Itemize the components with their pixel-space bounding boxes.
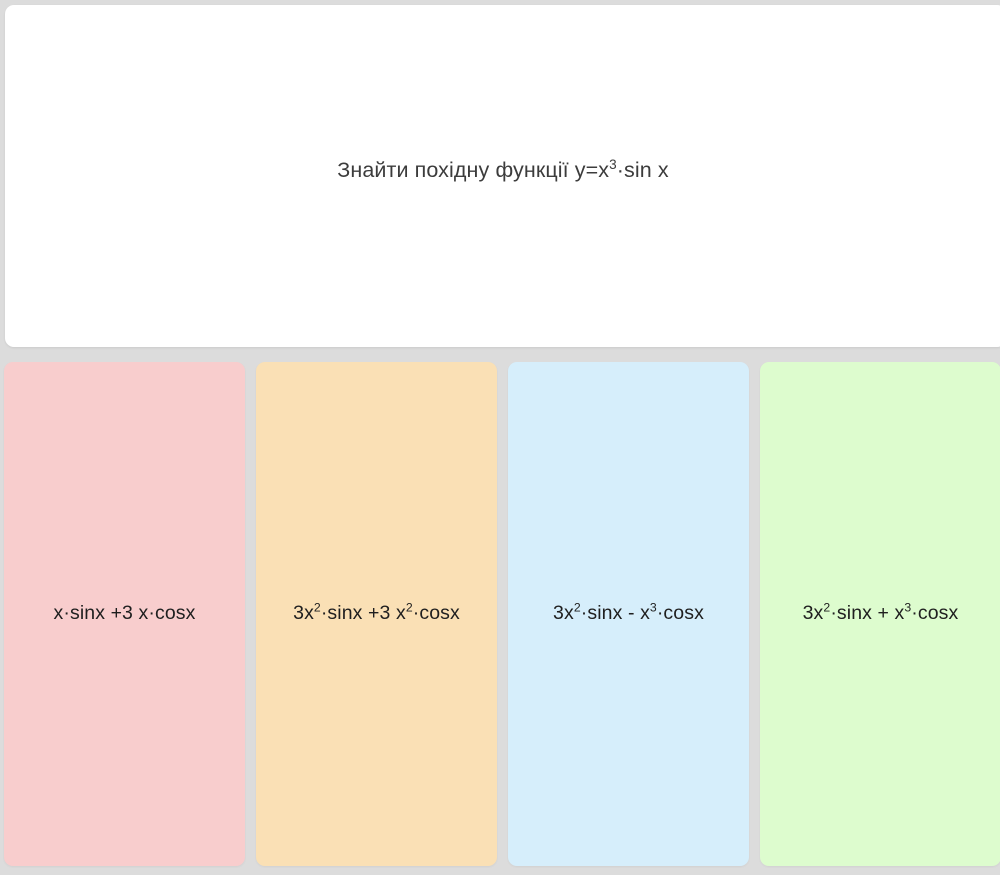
answer-c-sup-1: 3: [650, 601, 657, 615]
quiz-container: Знайти похідну функції y=x3·sin x x·sinx…: [0, 0, 1000, 875]
answer-c-part-2: ·cosx: [657, 602, 704, 624]
answer-b-part-1: ·sinx +3 x: [321, 602, 406, 624]
answer-b-part-0: 3x: [293, 602, 314, 624]
answer-option-a-label: x·sinx +3 x·cosx: [54, 601, 196, 626]
question-exponent: 3: [609, 157, 617, 172]
answer-option-c[interactable]: 3x2·sinx - x3·cosx: [508, 362, 749, 866]
answer-c-part-1: ·sinx - x: [581, 602, 650, 624]
answer-option-b-label: 3x2·sinx +3 x2·cosx: [293, 601, 460, 626]
answer-d-part-2: ·cosx: [911, 602, 958, 624]
answer-c-part-0: 3x: [553, 602, 574, 624]
answer-c-sup-0: 2: [574, 601, 581, 615]
question-prefix: Знайти похідну функції y=x: [337, 158, 609, 182]
answer-option-d[interactable]: 3x2·sinx + x3·cosx: [760, 362, 1000, 866]
answer-option-c-label: 3x2·sinx - x3·cosx: [553, 601, 704, 626]
question-suffix: ·sin x: [617, 158, 669, 182]
answer-b-part-2: ·cosx: [413, 602, 460, 624]
answer-d-part-0: 3x: [803, 602, 824, 624]
answer-b-sup-1: 2: [406, 601, 413, 615]
answer-b-sup-0: 2: [314, 601, 321, 615]
answer-options-row: x·sinx +3 x·cosx 3x2·sinx +3 x2·cosx 3x2…: [4, 362, 1000, 866]
answer-option-b[interactable]: 3x2·sinx +3 x2·cosx: [256, 362, 497, 866]
answer-option-d-label: 3x2·sinx + x3·cosx: [803, 601, 959, 626]
question-panel: Знайти похідну функції y=x3·sin x: [5, 5, 1000, 347]
answer-a-part-0: x·sinx +3 x·cosx: [54, 602, 196, 624]
answer-option-a[interactable]: x·sinx +3 x·cosx: [4, 362, 245, 866]
answer-d-part-1: ·sinx + x: [830, 602, 904, 624]
question-text: Знайти похідну функції y=x3·sin x: [337, 157, 668, 184]
